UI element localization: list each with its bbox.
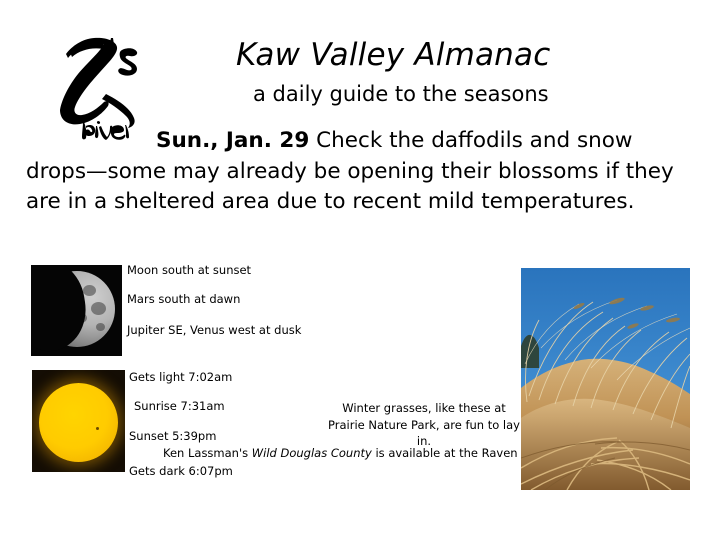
sky-line-moon: Moon south at sunset	[127, 265, 251, 277]
moon-crater	[91, 302, 106, 315]
zs-divine-logo-icon	[34, 22, 154, 140]
moon-photo	[31, 265, 122, 356]
moon-crater	[96, 323, 105, 331]
winter-grasses-photo	[521, 268, 690, 490]
page-subtitle: a daily guide to the seasons	[253, 84, 549, 105]
almanac-entry: Sun., Jan. 29 Check the daffodils and sn…	[26, 126, 686, 218]
sun-photo	[32, 370, 125, 472]
sunrise-time: Sunrise 7:31am	[134, 401, 225, 413]
winter-grasses-illustration	[521, 268, 690, 490]
sunspot	[96, 427, 99, 430]
sun-disc	[39, 383, 118, 462]
entry-date: Sun., Jan. 29	[156, 128, 309, 153]
gets-light-time: Gets light 7:02am	[129, 372, 232, 384]
page-title: Kaw Valley Almanac	[236, 40, 550, 71]
sunset-time: Sunset 5:39pm	[129, 431, 216, 443]
book-author: Ken Lassman's	[163, 446, 252, 460]
gets-dark-time: Gets dark 6:07pm	[129, 466, 233, 478]
sky-line-mars: Mars south at dawn	[127, 294, 240, 306]
photo-caption: Winter grasses, like these at Prairie Na…	[326, 400, 522, 450]
brand-logo	[34, 22, 154, 140]
moon-crater	[83, 285, 96, 296]
sky-line-planets: Jupiter SE, Venus west at dusk	[127, 325, 301, 337]
entry-text: Check the daffodils and snow drops—some …	[26, 128, 674, 214]
